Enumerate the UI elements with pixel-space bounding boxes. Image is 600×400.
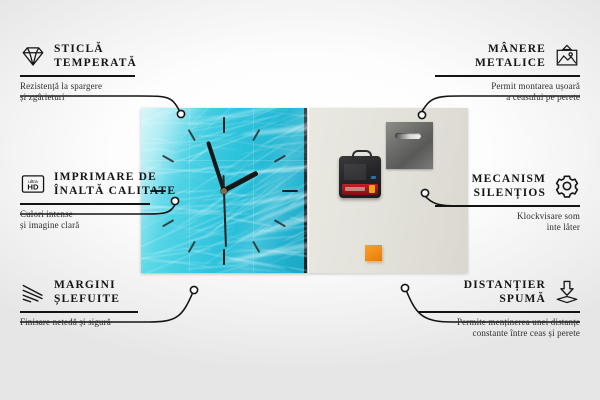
feature-title: MECANISM SILENȚIOS [435,172,546,200]
arrow-down-pad-icon [554,279,580,305]
feature-polished-edges: MARGINI ȘLEFUITE Finisare netedă și sigu… [20,278,145,328]
leader-dot-edges [190,286,197,293]
feature-rule [435,205,580,207]
battery-terminal [369,185,375,193]
feature-foam-spacer: DISTANȚIER SPUMĂ Permite menținerea unei… [418,278,580,340]
mechanism-loop [352,150,372,161]
feature-subtitle: Permit montarea ușoară a ceasului pe per… [435,81,580,104]
feature-subtitle: Finisare netedă și sigură [20,317,145,329]
ultra-hd-icon: ultra HD [20,171,46,197]
metal-hanger-part [386,122,433,169]
battery-part [342,184,378,195]
feature-rule [20,311,138,313]
feature-rule [20,203,150,205]
feature-tempered-glass: STICLĂ TEMPERATĂ Rezistență la spargere … [20,42,150,104]
diamond-icon [20,43,46,69]
feature-high-quality-print: ultra HD IMPRIMARE DE ÎNALTĂ CALITATE Cu… [20,170,160,232]
feature-metal-handles: MÂNERE METALICE Permit montarea ușoară a… [435,42,580,104]
leader-dot-spacer [401,284,408,291]
feature-header: ultra HD IMPRIMARE DE ÎNALTĂ CALITATE [20,170,160,198]
feature-header: MECANISM SILENȚIOS [435,172,580,200]
panel-seam-v2 [253,108,254,273]
feature-title: MÂNERE METALICE [435,42,546,70]
feature-title: STICLĂ TEMPERATĂ [54,42,137,70]
svg-text:HD: HD [27,183,39,192]
battery-label [345,187,365,191]
feature-title: MARGINI ȘLEFUITE [54,278,120,306]
diagonal-lines-icon [20,279,46,305]
feature-header: DISTANȚIER SPUMĂ [418,278,580,306]
infographic-canvas: STICLĂ TEMPERATĂ Rezistență la spargere … [0,0,600,400]
feature-rule [418,311,580,313]
quartz-mechanism-part [339,156,381,198]
product-photo [141,108,468,273]
feature-subtitle: Permite menținerea unei distanțe constan… [418,317,580,340]
feature-title: IMPRIMARE DE ÎNALTĂ CALITATE [54,170,176,198]
feature-subtitle: Culori intense și imagine clară [20,209,160,232]
foam-spacer-part [365,245,382,261]
gear-icon [554,173,580,199]
mechanism-dial [344,164,366,180]
feature-subtitle: Rezistență la spargere și zgârieturi [20,81,150,104]
feature-silent-mechanism: MECANISM SILENȚIOS Klockvisare som inte … [435,172,580,234]
feature-header: MÂNERE METALICE [435,42,580,70]
feature-header: MARGINI ȘLEFUITE [20,278,145,306]
feature-title: DISTANȚIER SPUMĂ [418,278,546,306]
picture-frame-icon [554,43,580,69]
feature-rule [20,75,135,77]
mechanism-led [371,176,376,179]
feature-header: STICLĂ TEMPERATĂ [20,42,150,70]
feature-subtitle: Klockvisare som inte låter [435,211,580,234]
feature-rule [435,75,580,77]
hanger-slot [395,133,421,139]
panel-seam-h [141,160,307,161]
center-cap [221,188,227,194]
